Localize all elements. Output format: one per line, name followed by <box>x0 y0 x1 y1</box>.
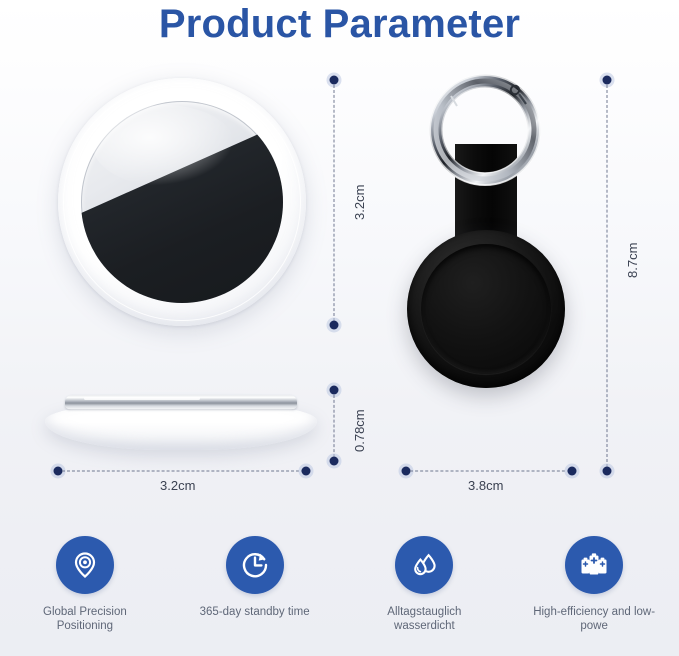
dim-dot <box>603 76 612 85</box>
keychain-case-view <box>398 72 586 470</box>
feature-label: Global Precision Positioning <box>20 605 150 633</box>
tracker-side-body <box>45 402 317 450</box>
dim-line-case-width <box>410 471 570 472</box>
feature-item-standby: 365-day standby time <box>170 536 340 656</box>
location-pin-icon <box>56 536 114 594</box>
dim-dot <box>330 321 339 330</box>
dim-label-case-height: 8.7cm <box>625 243 640 278</box>
dim-dot <box>302 467 311 476</box>
dim-dot <box>330 76 339 85</box>
page-title: Product Parameter <box>0 2 679 47</box>
tracker-front-view <box>58 78 306 326</box>
tracker-metal-disc <box>81 101 283 303</box>
dim-dot <box>330 386 339 395</box>
dim-dot <box>568 467 577 476</box>
batteries-icon <box>565 536 623 594</box>
feature-list: Global Precision Positioning 365-day sta… <box>0 536 679 656</box>
dim-label-tracker-thickness: 0.78cm <box>352 409 367 452</box>
water-drops-icon <box>395 536 453 594</box>
feature-item-waterproof: Alltagstauglich wasserdicht <box>340 536 510 656</box>
dim-line-tracker-thickness <box>334 395 335 457</box>
dim-line-tracker-width <box>62 471 304 472</box>
dim-label-case-width: 3.8cm <box>468 478 503 493</box>
dim-label-tracker-height: 3.2cm <box>352 185 367 220</box>
feature-item-positioning: Global Precision Positioning <box>0 536 170 656</box>
clock-refresh-icon <box>226 536 284 594</box>
feature-item-efficiency: High-efficiency and low-powe <box>509 536 679 656</box>
dim-dot <box>603 467 612 476</box>
dim-dot <box>330 457 339 466</box>
tracker-disc-gloss <box>93 105 234 186</box>
carabiner-ring-icon <box>427 72 543 188</box>
feature-label: 365-day standby time <box>200 605 310 619</box>
feature-label: High-efficiency and low-powe <box>529 605 659 633</box>
tracker-side-view <box>45 392 317 454</box>
product-parameter-infographic: Product Parameter <box>0 0 679 656</box>
dim-label-tracker-width: 3.2cm <box>160 478 195 493</box>
dim-line-case-height <box>607 85 608 467</box>
case-body <box>407 230 565 388</box>
case-inset-recess <box>421 244 551 374</box>
tracker-disc-reflection <box>81 117 283 303</box>
dim-line-tracker-height <box>334 85 335 321</box>
tracker-side-metal-rim <box>65 395 297 409</box>
feature-label: Alltagstauglich wasserdicht <box>359 605 489 633</box>
